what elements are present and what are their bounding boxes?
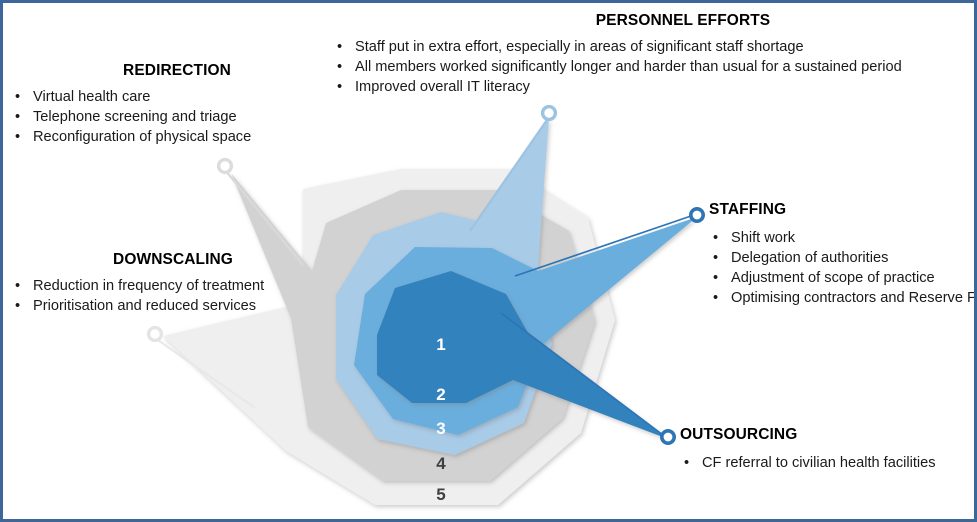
list-item: • CF referral to civilian health facilit… [680,453,977,473]
bullet-glyph: • [684,453,689,473]
bullet-glyph: • [337,77,342,97]
bullet-glyph: • [15,127,20,147]
personnel-efforts-list: • Staff put in extra effort, especially … [333,37,973,97]
list-item-text: Delegation of authorities [731,250,888,266]
list-item-text: Telephone screening and triage [33,109,237,125]
list-item: • Optimising contractors and Reserve For… [709,288,977,308]
staffing-list: • Shift work • Delegation of authorities… [709,228,977,308]
list-item: • Shift work [709,228,977,248]
list-item-text: Optimising contractors and Reserve Force… [731,290,977,306]
connector-marker-downscaling [149,328,162,341]
bullet-glyph: • [713,248,718,268]
outsourcing-title: OUTSOURCING [680,426,977,444]
list-item: • Virtual health care [11,87,311,107]
list-item-text: Shift work [731,230,795,246]
bullet-glyph: • [15,107,20,127]
list-item-text: All members worked significantly longer … [355,59,902,75]
downscaling-title: DOWNSCALING [35,251,311,269]
connector-marker-outsourcing [662,431,674,443]
list-item-text: Adjustment of scope of practice [731,270,935,286]
bullet-glyph: • [337,57,342,77]
list-item: • Telephone screening and triage [11,107,311,127]
list-item-text: Improved overall IT literacy [355,79,530,95]
list-item-text: Prioritisation and reduced services [33,298,256,314]
downscaling-list: • Reduction in frequency of treatment • … [11,276,311,316]
list-item-text: Reconfiguration of physical space [33,129,251,145]
list-item: • Adjustment of scope of practice [709,268,977,288]
list-item: • Staff put in extra effort, especially … [333,37,973,57]
list-item-text: Reduction in frequency of treatment [33,278,264,294]
list-item: • Reconfiguration of physical space [11,127,311,147]
bullet-glyph: • [713,268,718,288]
bullet-glyph: • [713,288,718,308]
list-item-text: Virtual health care [33,89,150,105]
redirection-title: REDIRECTION [43,62,311,80]
callout-redirection: REDIRECTION • Virtual health care • Tele… [11,62,311,147]
connector-marker-personnel [543,107,556,120]
list-item: • Delegation of authorities [709,248,977,268]
list-item: • Reduction in frequency of treatment [11,276,311,296]
personnel-efforts-title: PERSONNEL EFFORTS [393,12,973,30]
callout-downscaling: DOWNSCALING • Reduction in frequency of … [11,251,311,316]
bullet-glyph: • [337,37,342,57]
callout-personnel-efforts: PERSONNEL EFFORTS • Staff put in extra e… [333,12,973,97]
connector-marker-staffing [691,209,703,221]
staffing-title: STAFFING [709,201,977,219]
connector-marker-redirection [219,160,232,173]
bullet-glyph: • [15,87,20,107]
list-item: • Improved overall IT literacy [333,77,973,97]
list-item: • Prioritisation and reduced services [11,296,311,316]
list-item-text: Staff put in extra effort, especially in… [355,39,804,55]
list-item-text: CF referral to civilian health facilitie… [702,455,936,471]
bullet-glyph: • [713,228,718,248]
list-item: • All members worked significantly longe… [333,57,973,77]
bullet-glyph: • [15,276,20,296]
outsourcing-list: • CF referral to civilian health facilit… [680,453,977,473]
bullet-glyph: • [15,296,20,316]
diagram-canvas: 1 2 3 4 5 PERSONNEL EFFORTS • Staff put … [0,0,977,522]
callout-outsourcing: OUTSOURCING • CF referral to civilian he… [680,426,977,473]
callout-staffing: STAFFING • Shift work • Delegation of au… [709,201,977,308]
redirection-list: • Virtual health care • Telephone screen… [11,87,311,147]
